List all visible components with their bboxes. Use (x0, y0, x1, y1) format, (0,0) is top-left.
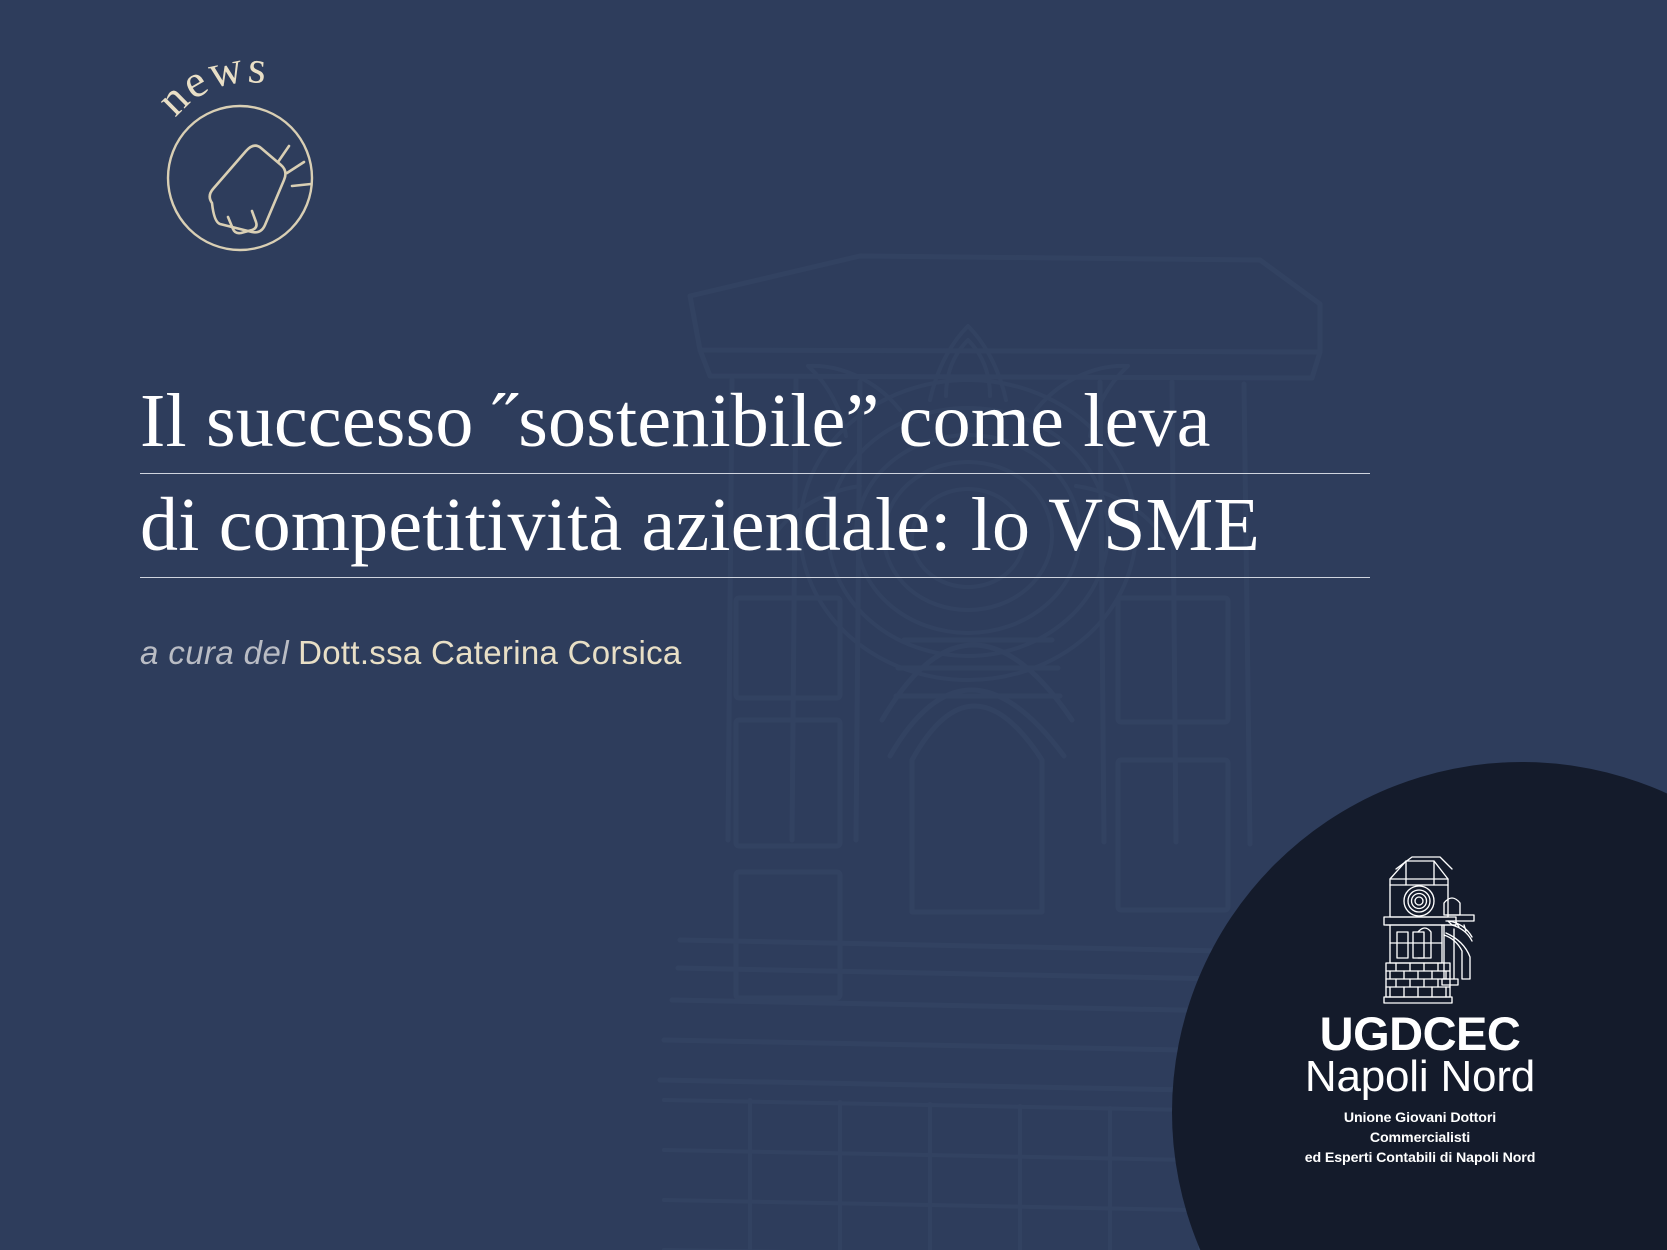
ugdcec-logo: UGDCEC Napoli Nord Unione Giovani Dottor… (1300, 855, 1540, 1168)
headline-line-1: Il successo ˝sostenibile” come leva (140, 383, 1370, 474)
megaphone-icon (210, 146, 311, 234)
logo-tagline-line-2: ed Esperti Contabili di Napoli Nord (1300, 1148, 1540, 1168)
byline-lead: a cura del (140, 634, 289, 671)
logo-tagline-line-1: Unione Giovani Dottori Commercialisti (1300, 1108, 1540, 1148)
slide-canvas: news Il successo ˝sostenibile” come leva… (0, 0, 1667, 1250)
logo-acronym: UGDCEC (1300, 1011, 1540, 1057)
logo-location: Napoli Nord (1300, 1055, 1540, 1100)
headline-line-2: di competitività aziendale: lo VSME (140, 487, 1370, 578)
byline-author: Dott.ssa Caterina Corsica (298, 634, 681, 671)
news-badge: news (140, 40, 340, 250)
logo-tagline: Unione Giovani Dottori Commercialisti ed… (1300, 1108, 1540, 1168)
headline: Il successo ˝sostenibile” come leva di c… (140, 383, 1370, 578)
byline: a cura del Dott.ssa Caterina Corsica (140, 632, 682, 673)
clock-tower-icon (1360, 855, 1480, 1005)
